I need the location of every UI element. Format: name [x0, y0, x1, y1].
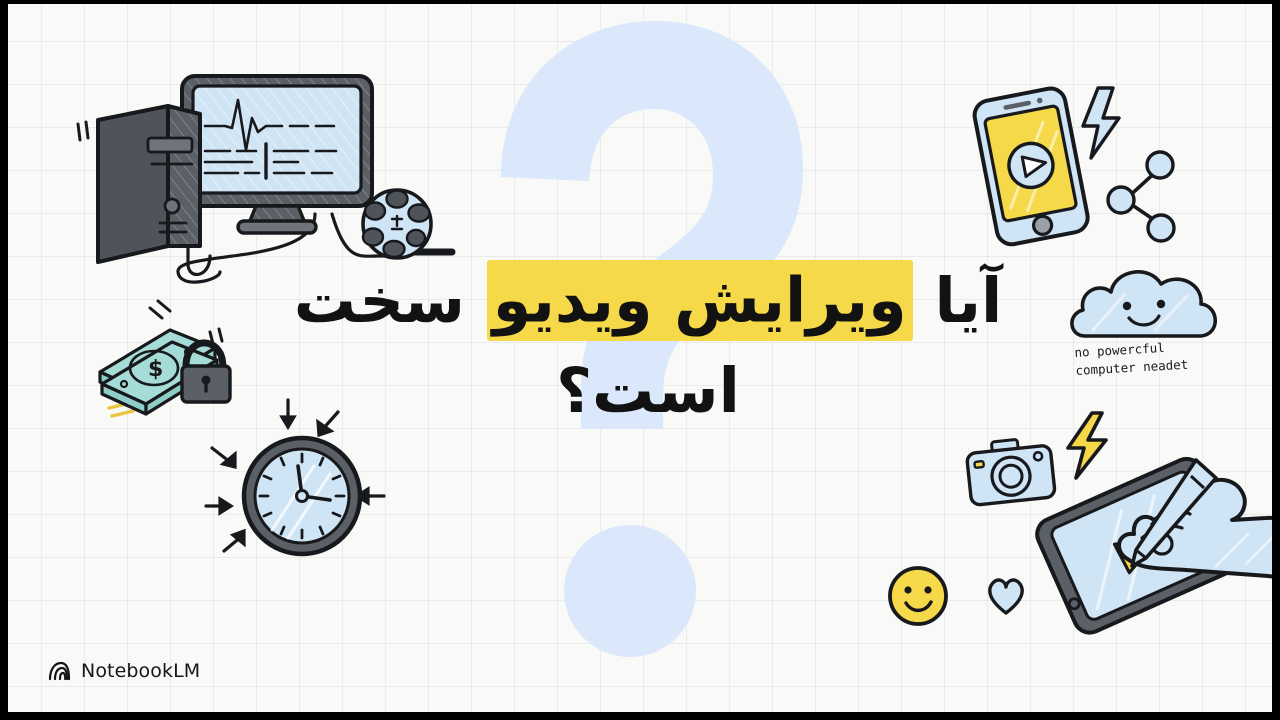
svg-text:$: $: [148, 357, 163, 382]
slide-canvas: $: [8, 4, 1272, 712]
share-nodes-icon: [1108, 152, 1174, 241]
heart-illustration: [984, 575, 1028, 617]
note-line-2: computer neadet: [1075, 357, 1189, 378]
notebooklm-brand: NotebookLM: [48, 660, 200, 682]
note-line-1: no powercful: [1074, 340, 1165, 360]
lightning-bolt-blue-icon: [1083, 88, 1119, 158]
tablet-stylus-hand-illustration: [1036, 446, 1271, 631]
smartphone-play-icon: [972, 86, 1090, 247]
smiley-face-illustration: [886, 564, 950, 628]
smartphone-share-illustration: [953, 76, 1183, 256]
notebooklm-label: NotebookLM: [81, 660, 200, 682]
handwritten-note: no powercful computer neadet: [1074, 336, 1226, 381]
headline-lead: آیا: [913, 264, 1002, 337]
notebooklm-spiral-icon: [48, 661, 72, 681]
page-title: آیا ویرایش ویدیو سخت است؟: [258, 256, 1038, 436]
slide-letterbox: $: [0, 0, 1280, 720]
film-reel-icon: [363, 190, 452, 258]
headline-highlight: ویرایش ویدیو: [487, 260, 913, 340]
